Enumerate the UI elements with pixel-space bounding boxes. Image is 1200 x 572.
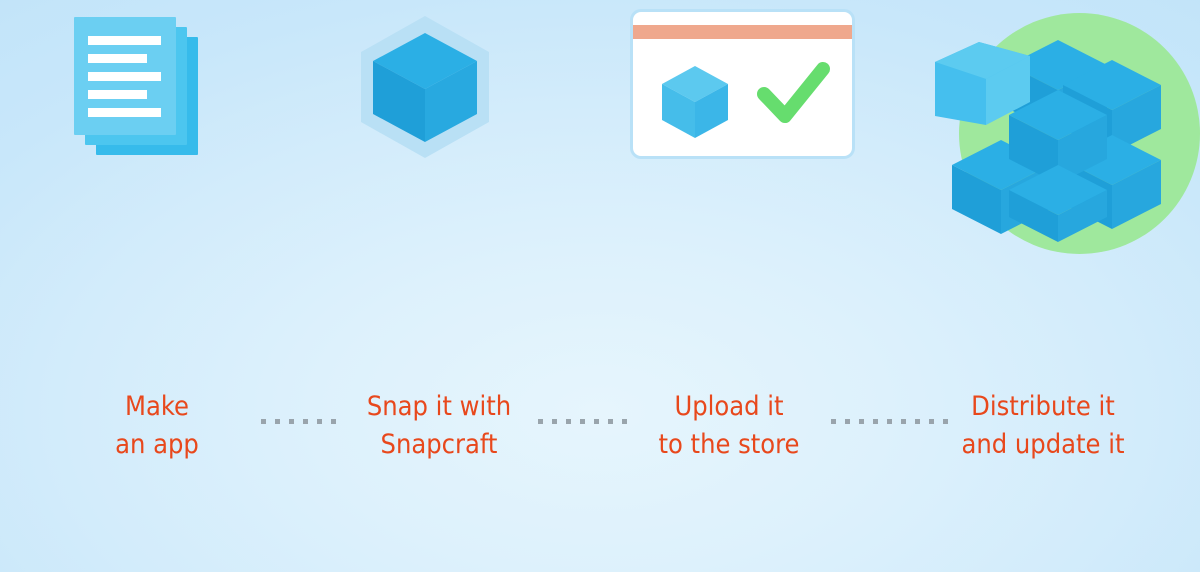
text-line (88, 54, 147, 63)
step-upload-it-to-the-store: Upload it to the store (636, 0, 822, 572)
step-distribute-it-and-update-it: Distribute it and update it (950, 0, 1136, 572)
checkmark-path (764, 69, 823, 116)
step-label-upload-it-to-the-store: Upload it to the store (618, 388, 840, 464)
workflow-steps: Make an app (0, 0, 1200, 572)
connector-2 (532, 0, 636, 572)
connector-dot (915, 419, 920, 424)
step-make-an-app: Make an app (64, 0, 250, 572)
connector-dot (859, 419, 864, 424)
connector-dot (317, 419, 322, 424)
store-cube-icon (660, 64, 730, 145)
text-line (88, 72, 161, 81)
mini-cube-svg (660, 64, 730, 140)
connector-1 (250, 0, 346, 572)
connector-dot (594, 419, 599, 424)
connector-dot (831, 419, 836, 424)
text-line (88, 108, 161, 117)
connector-dot (538, 419, 543, 424)
paper-sheet-front (74, 17, 176, 135)
text-line (88, 90, 147, 99)
connector-dot (901, 419, 906, 424)
connector-dot (289, 419, 294, 424)
connector-dot (566, 419, 571, 424)
snap-cube-group (352, 14, 498, 160)
text-line (88, 36, 161, 45)
documents-stack-icon (64, 0, 250, 380)
step-label-make-an-app: Make an app (46, 388, 268, 464)
step-label-snap-it-with-snapcraft: Snap it with Snapcraft (328, 388, 550, 464)
connector-dot (580, 419, 585, 424)
infographic-canvas: Make an app (0, 0, 1200, 572)
connector-dot (845, 419, 850, 424)
snap-cube-icon (346, 0, 532, 380)
store-card-accent-bar (633, 25, 852, 39)
cube-cluster-svg (925, 2, 1177, 254)
step-snap-it-with-snapcraft: Snap it with Snapcraft (346, 0, 532, 572)
papers-group (74, 17, 204, 157)
connector-dot (608, 419, 613, 424)
snap-cube-svg (352, 14, 498, 160)
connector-dot (873, 419, 878, 424)
connector-dot (261, 419, 266, 424)
connector-dot (275, 419, 280, 424)
connector-dot (303, 419, 308, 424)
connector-dot (887, 419, 892, 424)
store-window-icon (636, 0, 822, 380)
connector-dot (552, 419, 557, 424)
step-label-distribute-it-and-update-it: Distribute it and update it (932, 388, 1154, 464)
cube-cluster-group (925, 2, 1177, 254)
cube-cluster-icon (950, 0, 1136, 380)
